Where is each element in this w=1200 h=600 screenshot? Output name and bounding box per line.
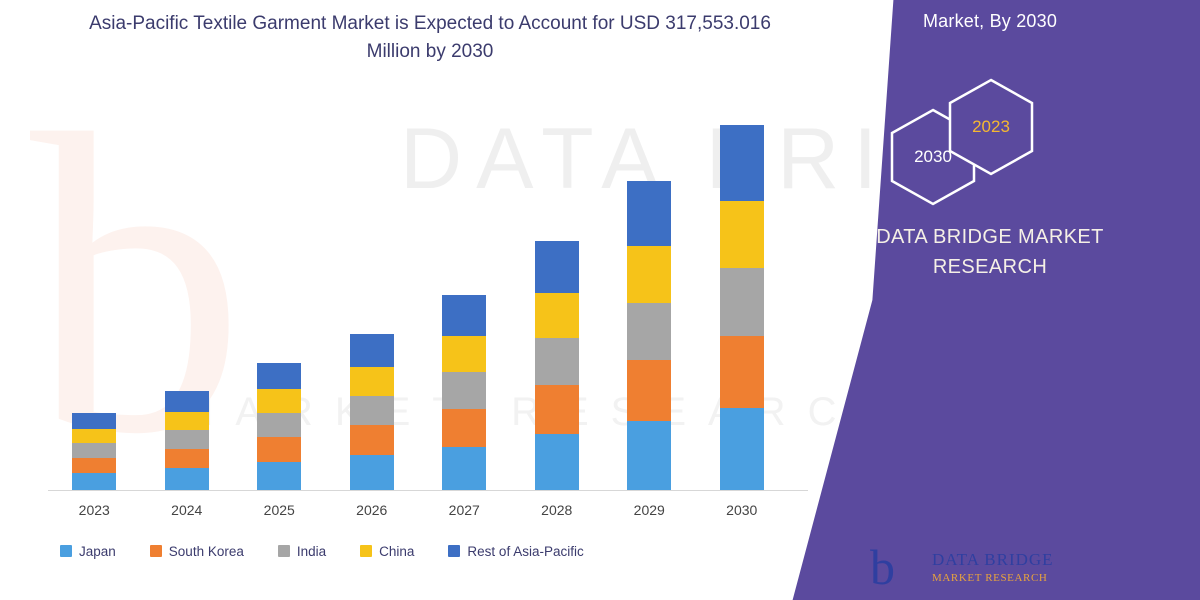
legend-label: China xyxy=(379,544,414,559)
bar-segment xyxy=(535,434,579,490)
x-axis-label: 2024 xyxy=(142,502,232,518)
hexagon-2030-label: 2030 xyxy=(914,147,952,167)
bar-segment xyxy=(442,372,486,409)
bar-segment xyxy=(627,303,671,360)
bar-segment xyxy=(72,429,116,443)
legend-label: India xyxy=(297,544,326,559)
bar-segment xyxy=(720,408,764,490)
bar-group xyxy=(72,413,116,490)
legend-label: South Korea xyxy=(169,544,244,559)
bar-segment xyxy=(350,425,394,455)
bar-segment xyxy=(165,412,209,430)
legend-label: Japan xyxy=(79,544,116,559)
bar-segment xyxy=(442,336,486,372)
bar-group xyxy=(257,363,301,490)
bar-group xyxy=(535,241,579,490)
bar-group xyxy=(627,181,671,490)
bar-segment xyxy=(72,413,116,429)
bar-segment xyxy=(627,181,671,246)
bar-segment xyxy=(442,295,486,336)
bar-segment xyxy=(535,385,579,434)
bar-segment xyxy=(442,409,486,447)
right-panel: Market, By 2030 2030 2023 DATA BRIDGE MA… xyxy=(780,0,1200,600)
chart-title: Asia-Pacific Textile Garment Market is E… xyxy=(80,10,780,66)
bar-segment xyxy=(535,241,579,293)
bar-segment xyxy=(350,396,394,425)
hexagon-2023: 2023 xyxy=(948,78,1034,176)
bar-segment xyxy=(535,293,579,339)
legend-swatch xyxy=(278,545,290,557)
bar-segment xyxy=(72,458,116,473)
chart-plot-area xyxy=(48,100,788,490)
bar-segment xyxy=(165,449,209,469)
chart-legend: JapanSouth KoreaIndiaChinaRest of Asia-P… xyxy=(60,538,800,564)
logo-line1: DATA BRIDGE xyxy=(932,550,1054,570)
bar-segment xyxy=(350,455,394,490)
bar-segment xyxy=(165,468,209,490)
bar-segment xyxy=(72,473,116,490)
x-axis-label: 2025 xyxy=(234,502,324,518)
bar-segment xyxy=(720,201,764,268)
bar-segment xyxy=(442,447,486,490)
x-axis-label: 2027 xyxy=(419,502,509,518)
x-axis-label: 2026 xyxy=(327,502,417,518)
bar-segment xyxy=(350,367,394,396)
bar-segment xyxy=(535,338,579,385)
x-axis-label: 2030 xyxy=(697,502,787,518)
bar-segment xyxy=(627,421,671,490)
legend-swatch xyxy=(448,545,460,557)
bar-segment xyxy=(257,363,301,389)
bar-segment xyxy=(165,430,209,448)
bar-segment xyxy=(627,360,671,421)
legend-item[interactable]: China xyxy=(360,544,414,559)
bar-group xyxy=(442,295,486,490)
bar-segment xyxy=(72,443,116,457)
bar-group xyxy=(720,125,764,490)
bar-segment xyxy=(350,334,394,367)
bar-segment xyxy=(165,391,209,412)
bar-segment xyxy=(627,246,671,302)
logo: b DATA BRIDGE MARKET RESEARCH xyxy=(870,540,1090,598)
panel-brand-line1: DATA BRIDGE MARKET xyxy=(780,222,1200,252)
bar-segment xyxy=(257,413,301,437)
bar-segment xyxy=(720,125,764,201)
x-axis-line xyxy=(48,490,808,491)
legend-label: Rest of Asia-Pacific xyxy=(467,544,583,559)
legend-swatch xyxy=(150,545,162,557)
bar-segment xyxy=(720,268,764,336)
panel-title: Market, By 2030 xyxy=(780,8,1200,34)
bar-segment xyxy=(257,437,301,462)
legend-item[interactable]: Rest of Asia-Pacific xyxy=(448,544,583,559)
bar-group xyxy=(165,391,209,490)
logo-mark: b xyxy=(870,542,895,592)
panel-brand-line2: RESEARCH xyxy=(780,252,1200,282)
legend-item[interactable]: India xyxy=(278,544,326,559)
logo-line2: MARKET RESEARCH xyxy=(932,572,1047,584)
hexagon-2023-label: 2023 xyxy=(972,117,1010,137)
legend-swatch xyxy=(360,545,372,557)
legend-item[interactable]: Japan xyxy=(60,544,116,559)
x-axis-label: 2028 xyxy=(512,502,602,518)
x-axis-label: 2029 xyxy=(604,502,694,518)
bar-segment xyxy=(257,462,301,490)
hexagon-group: 2030 2023 xyxy=(780,86,1200,216)
bar-segment xyxy=(257,389,301,413)
panel-brand: DATA BRIDGE MARKET RESEARCH xyxy=(780,222,1200,282)
bar-segment xyxy=(720,336,764,408)
x-axis-labels: 20232024202520262027202820292030 xyxy=(48,498,808,526)
bar-group xyxy=(350,334,394,490)
legend-item[interactable]: South Korea xyxy=(150,544,244,559)
x-axis-label: 2023 xyxy=(49,502,139,518)
legend-swatch xyxy=(60,545,72,557)
